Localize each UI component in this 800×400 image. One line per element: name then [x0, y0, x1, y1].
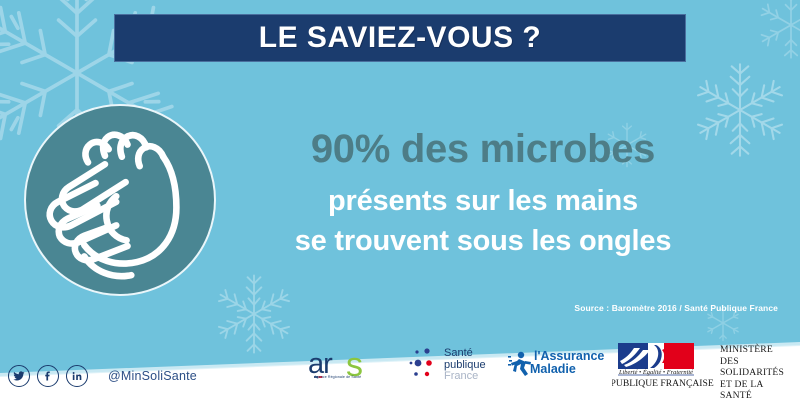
logo-spf-line1: Santé	[444, 348, 486, 360]
logo-ars: ar s Agence Régionale de Santé	[300, 348, 398, 388]
footer: @MinSoliSante ar s Agence Régionale de S…	[0, 340, 800, 400]
twitter-icon[interactable]	[8, 365, 30, 387]
svg-text:RÉPUBLIQUE FRANÇAISE: RÉPUBLIQUE FRANÇAISE	[612, 377, 714, 389]
spf-dots-icon	[408, 347, 442, 381]
snowflake-decoration-corner	[752, 0, 800, 64]
logo-sante-publique-france: Santé publique France	[408, 347, 508, 387]
marianne-flag-icon: Liberté • Égalité • Fraternité RÉPUBLIQU…	[612, 342, 716, 392]
logo-ministere-line3: ET DE LA SANTÉ	[720, 379, 797, 400]
message-line-3: se trouvent sous les ongles	[248, 221, 718, 261]
logo-ars-tagline: Agence Régionale de Santé	[314, 375, 361, 379]
logo-ministere-line1: MINISTÈRE	[720, 344, 797, 356]
header-banner: LE SAVIEZ-VOUS ?	[114, 14, 686, 62]
svg-text:Liberté • Égalité • Fraternité: Liberté • Égalité • Fraternité	[618, 368, 694, 376]
source-attribution: Source : Baromètre 2016 / Santé Publique…	[574, 303, 778, 313]
logo-ministere: Liberté • Égalité • Fraternité RÉPUBLIQU…	[612, 342, 797, 392]
logo-assurance-maladie: l'Assurance Maladie	[508, 350, 612, 386]
social-links: @MinSoliSante	[8, 365, 197, 387]
infographic-poster: LE SAVIEZ-VOUS ? 90% des m	[0, 0, 800, 400]
banner-title: LE SAVIEZ-VOUS ?	[259, 21, 541, 55]
facebook-icon[interactable]	[37, 365, 59, 387]
logo-am-line2: Maladie	[530, 363, 604, 376]
linkedin-icon[interactable]	[66, 365, 88, 387]
logo-spf-line3: France	[444, 371, 486, 383]
message-line-2: présents sur les mains	[248, 181, 718, 221]
washing-hands-icon	[24, 104, 216, 296]
social-handle: @MinSoliSante	[108, 369, 197, 383]
message-highlight: 90% des microbes	[248, 126, 718, 173]
logo-ministere-line2: DES SOLIDARITÉS	[720, 356, 797, 379]
main-message: 90% des microbes présents sur les mains …	[248, 126, 718, 261]
